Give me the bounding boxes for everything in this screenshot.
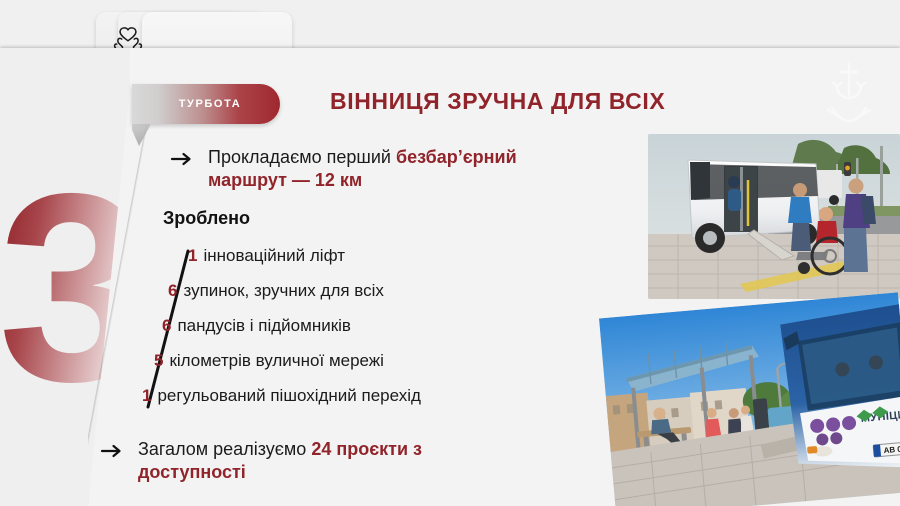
section-badge-body: ТУРБОТА bbox=[132, 84, 280, 124]
photo-wheelchair-boarding-bus bbox=[648, 134, 900, 299]
stat-label: пандусів і підйомників bbox=[177, 316, 350, 336]
vinnytsia-coat-of-arms-icon bbox=[820, 58, 878, 134]
section-badge: ТУРБОТА bbox=[132, 84, 280, 124]
slide-root: 3 ТУРБОТА ВІННИЦЯ ЗРУЧНА ДЛЯ ВСІХ bbox=[0, 0, 900, 506]
list-item: 5 кілометрів вуличної мережі bbox=[140, 351, 540, 386]
section-badge-label: ТУРБОТА bbox=[171, 98, 242, 110]
stat-number: 5 bbox=[154, 351, 163, 371]
stat-number: 1 bbox=[188, 246, 197, 266]
stat-label: регульований пішохідний перехід bbox=[157, 386, 420, 406]
stat-number: 6 bbox=[168, 281, 177, 301]
summary-text: Загалом реалізуємо 24 проєкти з доступно… bbox=[138, 438, 530, 484]
intro-bullet: Прокладаємо перший безбар’єрний маршрут … bbox=[170, 146, 590, 192]
intro-text: Прокладаємо перший безбар’єрний маршрут … bbox=[208, 146, 590, 192]
stat-number: 1 bbox=[142, 386, 151, 406]
stats-list: 1 інноваційний ліфт 6 зупинок, зручних д… bbox=[140, 246, 540, 421]
photo-accessible-bus-stop: МУНІЦИПАЛЬ AB 01 bbox=[599, 292, 900, 506]
stat-label: інноваційний ліфт bbox=[203, 246, 345, 266]
page-title: ВІННИЦЯ ЗРУЧНА ДЛЯ ВСІХ bbox=[330, 88, 665, 115]
subheading: Зроблено bbox=[163, 208, 250, 229]
list-item: 6 пандусів і підйомників bbox=[140, 316, 540, 351]
summary-text-plain: Загалом реалізуємо bbox=[138, 439, 311, 459]
stat-label: кілометрів вуличної мережі bbox=[169, 351, 383, 371]
list-item: 1 регульований пішохідний перехід bbox=[140, 386, 540, 421]
intro-text-plain: Прокладаємо перший bbox=[208, 147, 396, 167]
list-item: 6 зупинок, зручних для всіх bbox=[140, 281, 540, 316]
arrow-right-icon bbox=[100, 440, 124, 462]
list-item: 1 інноваційний ліфт bbox=[140, 246, 540, 281]
arrow-right-icon bbox=[170, 148, 194, 170]
svg-text:AB 01: AB 01 bbox=[883, 444, 900, 455]
stat-number: 6 bbox=[162, 316, 171, 336]
summary-bullet: Загалом реалізуємо 24 проєкти з доступно… bbox=[100, 438, 530, 484]
stat-label: зупинок, зручних для всіх bbox=[183, 281, 383, 301]
